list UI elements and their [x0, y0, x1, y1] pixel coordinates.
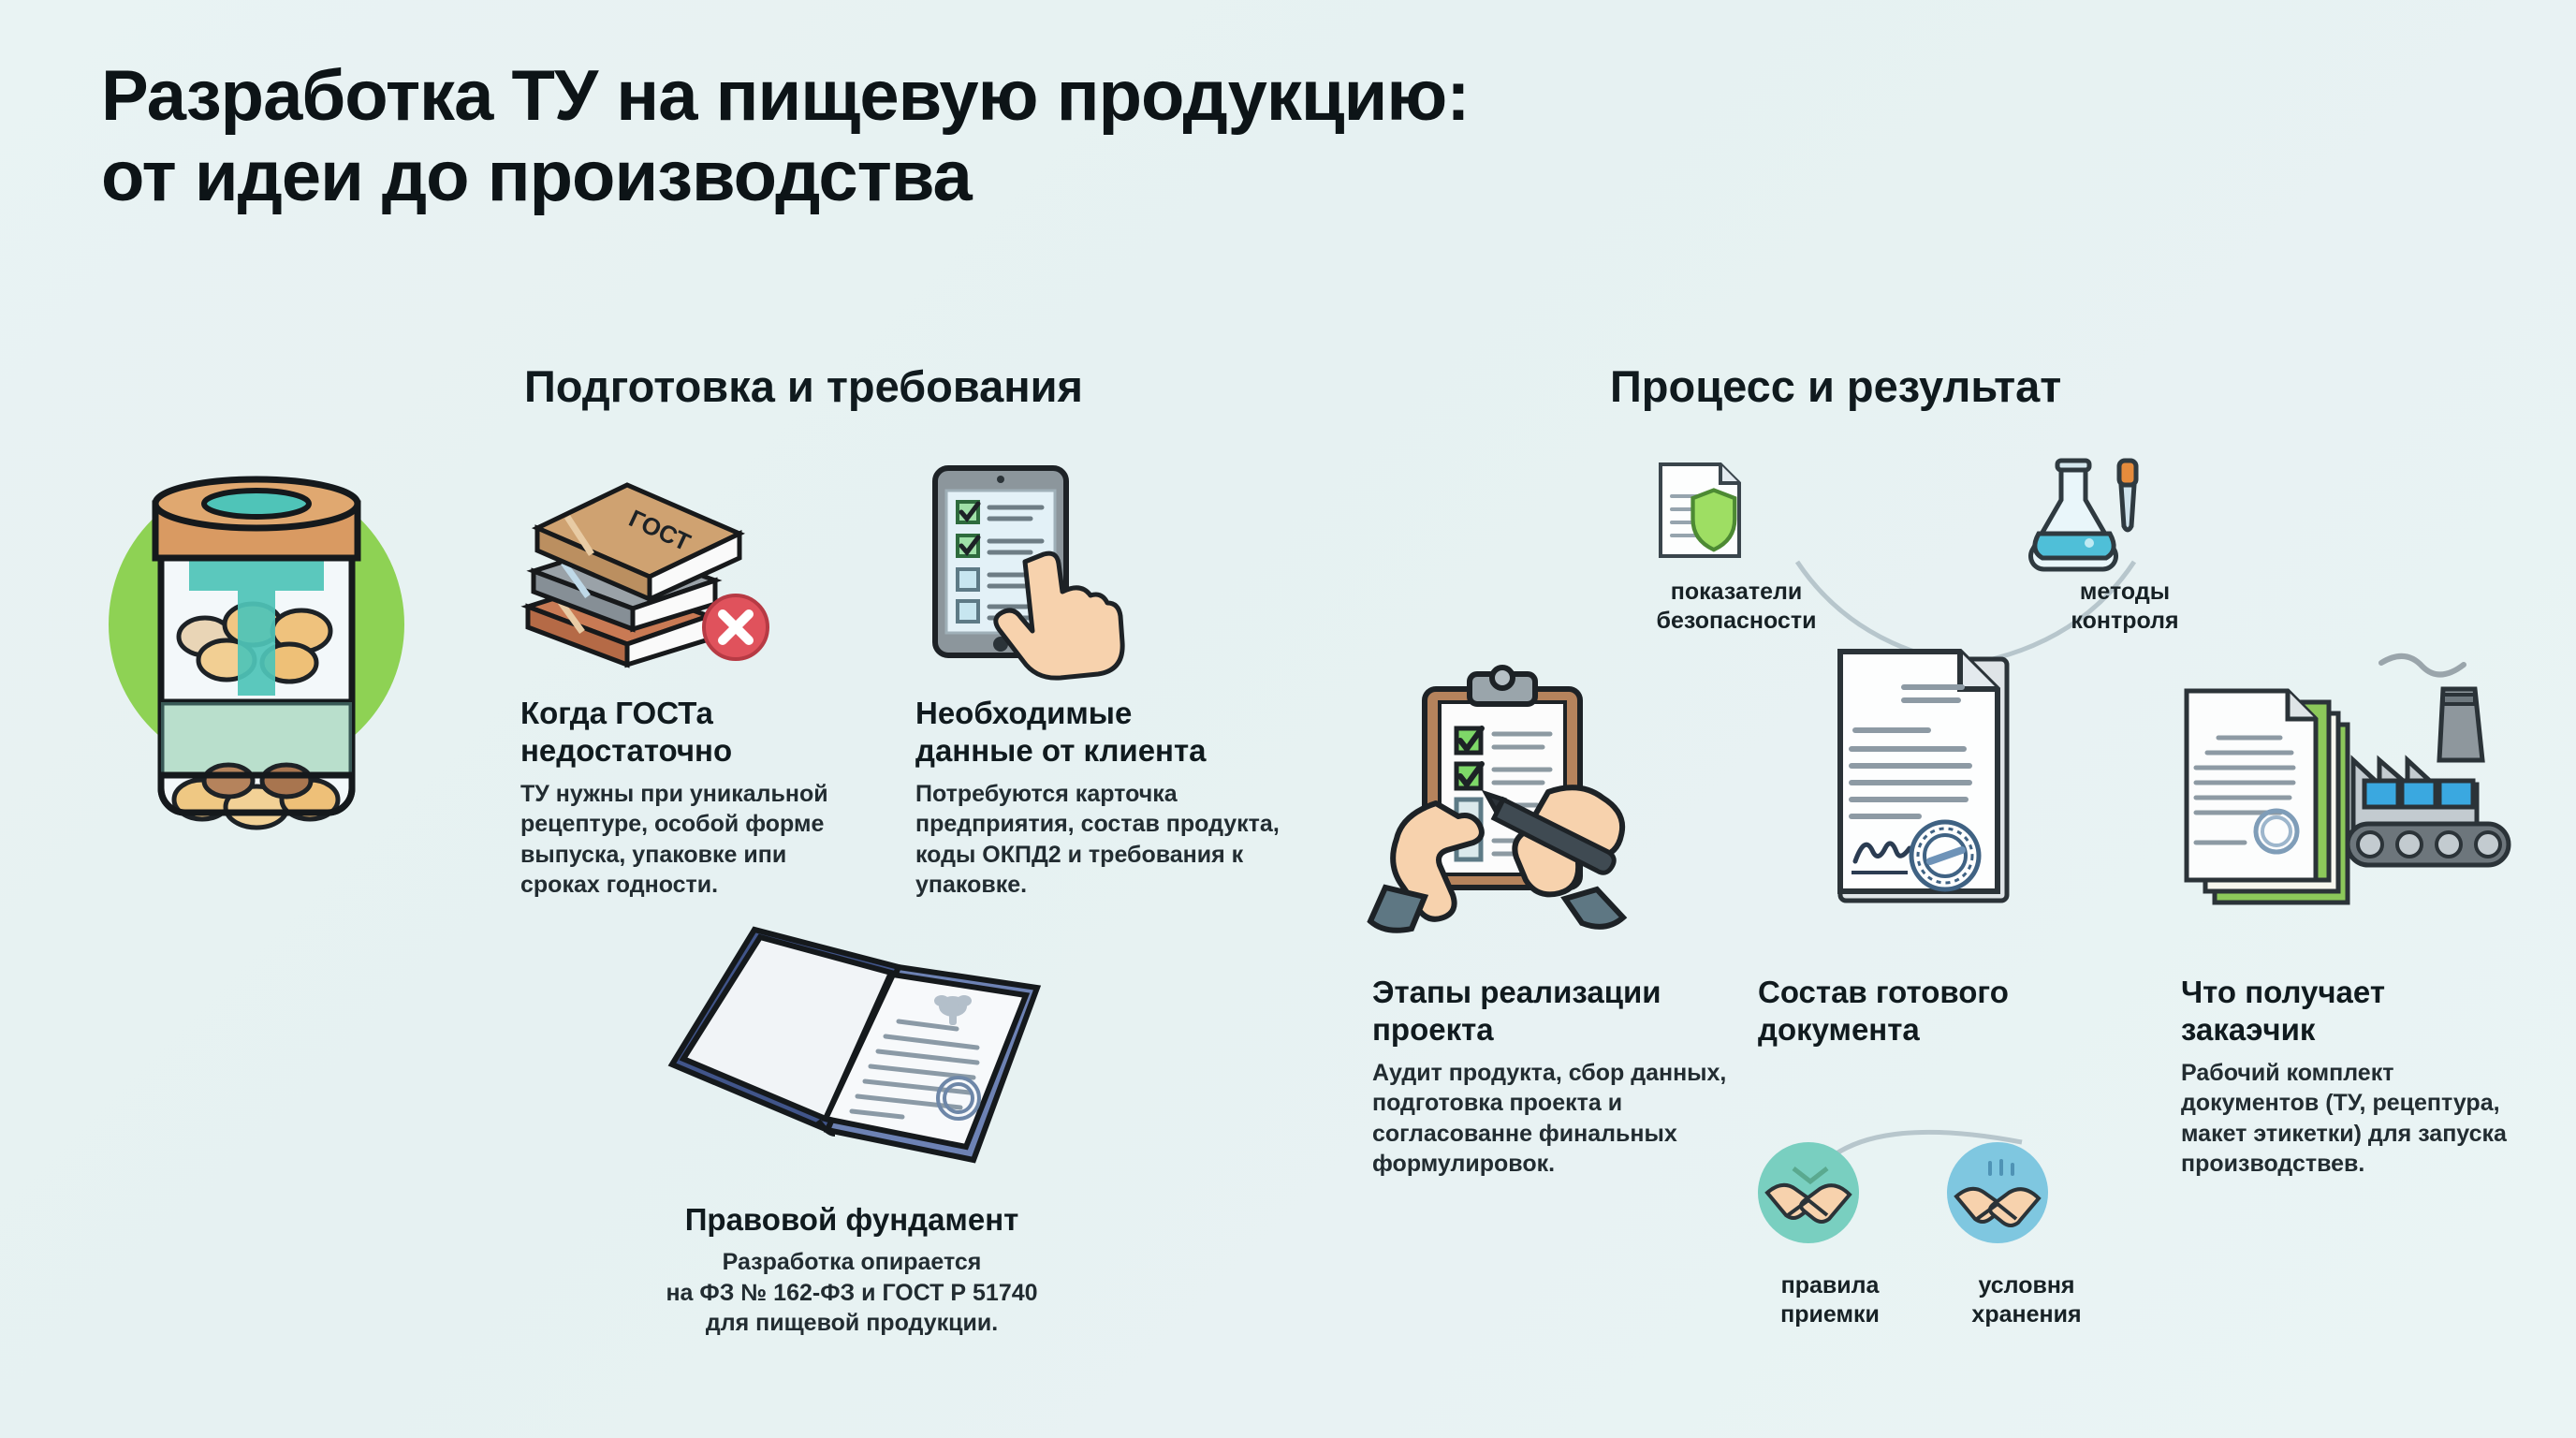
- card-project-stages: Этапы реализации проекта Аудит продукта,…: [1372, 974, 1742, 1180]
- section-heading-process: Процесс и результат: [1610, 360, 2061, 412]
- infographic-canvas: Разработка ТУ на пищевую продукцию: от и…: [0, 0, 2576, 1438]
- card-customer-result-body: Рабочий комплект документов (ТУ, рецепту…: [2181, 1058, 2509, 1180]
- section-heading-preparation: Подготовка и требования: [524, 360, 1083, 412]
- card-legal-foundation-body: Разработка опирается на ФЗ № 162-ФЗ и ГО…: [599, 1247, 1105, 1339]
- card-gost-body: ТУ нужны при уникальной рецептуре, особо…: [520, 779, 867, 901]
- card-document-composition-title: Состав готового документа: [1758, 974, 2067, 1049]
- label-control-methods: методы контроля: [2022, 578, 2228, 635]
- open-law-book-icon: [644, 922, 1046, 1184]
- signed-document-seal-icon: [1814, 638, 2029, 919]
- page-title: Разработка ТУ на пищевую продукцию: от и…: [101, 56, 2254, 217]
- card-client-data-body: Потребуются карточка предприятия, состав…: [915, 779, 1299, 901]
- card-customer-result-title: Что получает закаэчик: [2181, 974, 2509, 1049]
- label-safety-indicators: показатели безопасности: [1619, 578, 1853, 635]
- handshake-blue-icon: [1945, 1140, 2050, 1245]
- handshake-green-icon: [1756, 1140, 1861, 1245]
- label-acceptance-rules: правила приемки: [1736, 1271, 1924, 1328]
- page-title-line-1: Разработка ТУ на пищевую продукцию:: [101, 56, 2254, 137]
- label-storage-conditions: условня хранения: [1928, 1271, 2125, 1328]
- card-customer-result: Что получает закаэчик Рабочий комплект д…: [2181, 974, 2509, 1180]
- card-client-data: Необходимые данные от клиента Потребуютс…: [915, 695, 1299, 901]
- card-document-composition: Состав готового документа: [1758, 974, 2067, 1049]
- card-legal-foundation: Правовой фундамент Разработка опирается …: [599, 1201, 1105, 1339]
- card-gost: Когда ГОСТа недостаточно ТУ нужны при ун…: [520, 695, 867, 901]
- jar-of-nuts-icon: [79, 433, 434, 826]
- tablet-checklist-hand-icon: [913, 461, 1133, 671]
- card-client-data-title: Необходимые данные от клиента: [915, 695, 1299, 770]
- page-title-line-2: от идеи до производства: [101, 137, 2254, 217]
- card-gost-title: Когда ГОСТа недостаточно: [520, 695, 867, 770]
- card-project-stages-title: Этапы реализации проекта: [1372, 974, 1742, 1049]
- gost-books-stack-icon: ГОСТ: [517, 466, 793, 668]
- documents-factory-icon: [2183, 648, 2557, 919]
- clipboard-hands-pen-icon: [1346, 653, 1674, 934]
- card-legal-foundation-title: Правовой фундамент: [599, 1201, 1105, 1239]
- card-project-stages-body: Аудит продукта, сбор данных, подготовка …: [1372, 1058, 1742, 1180]
